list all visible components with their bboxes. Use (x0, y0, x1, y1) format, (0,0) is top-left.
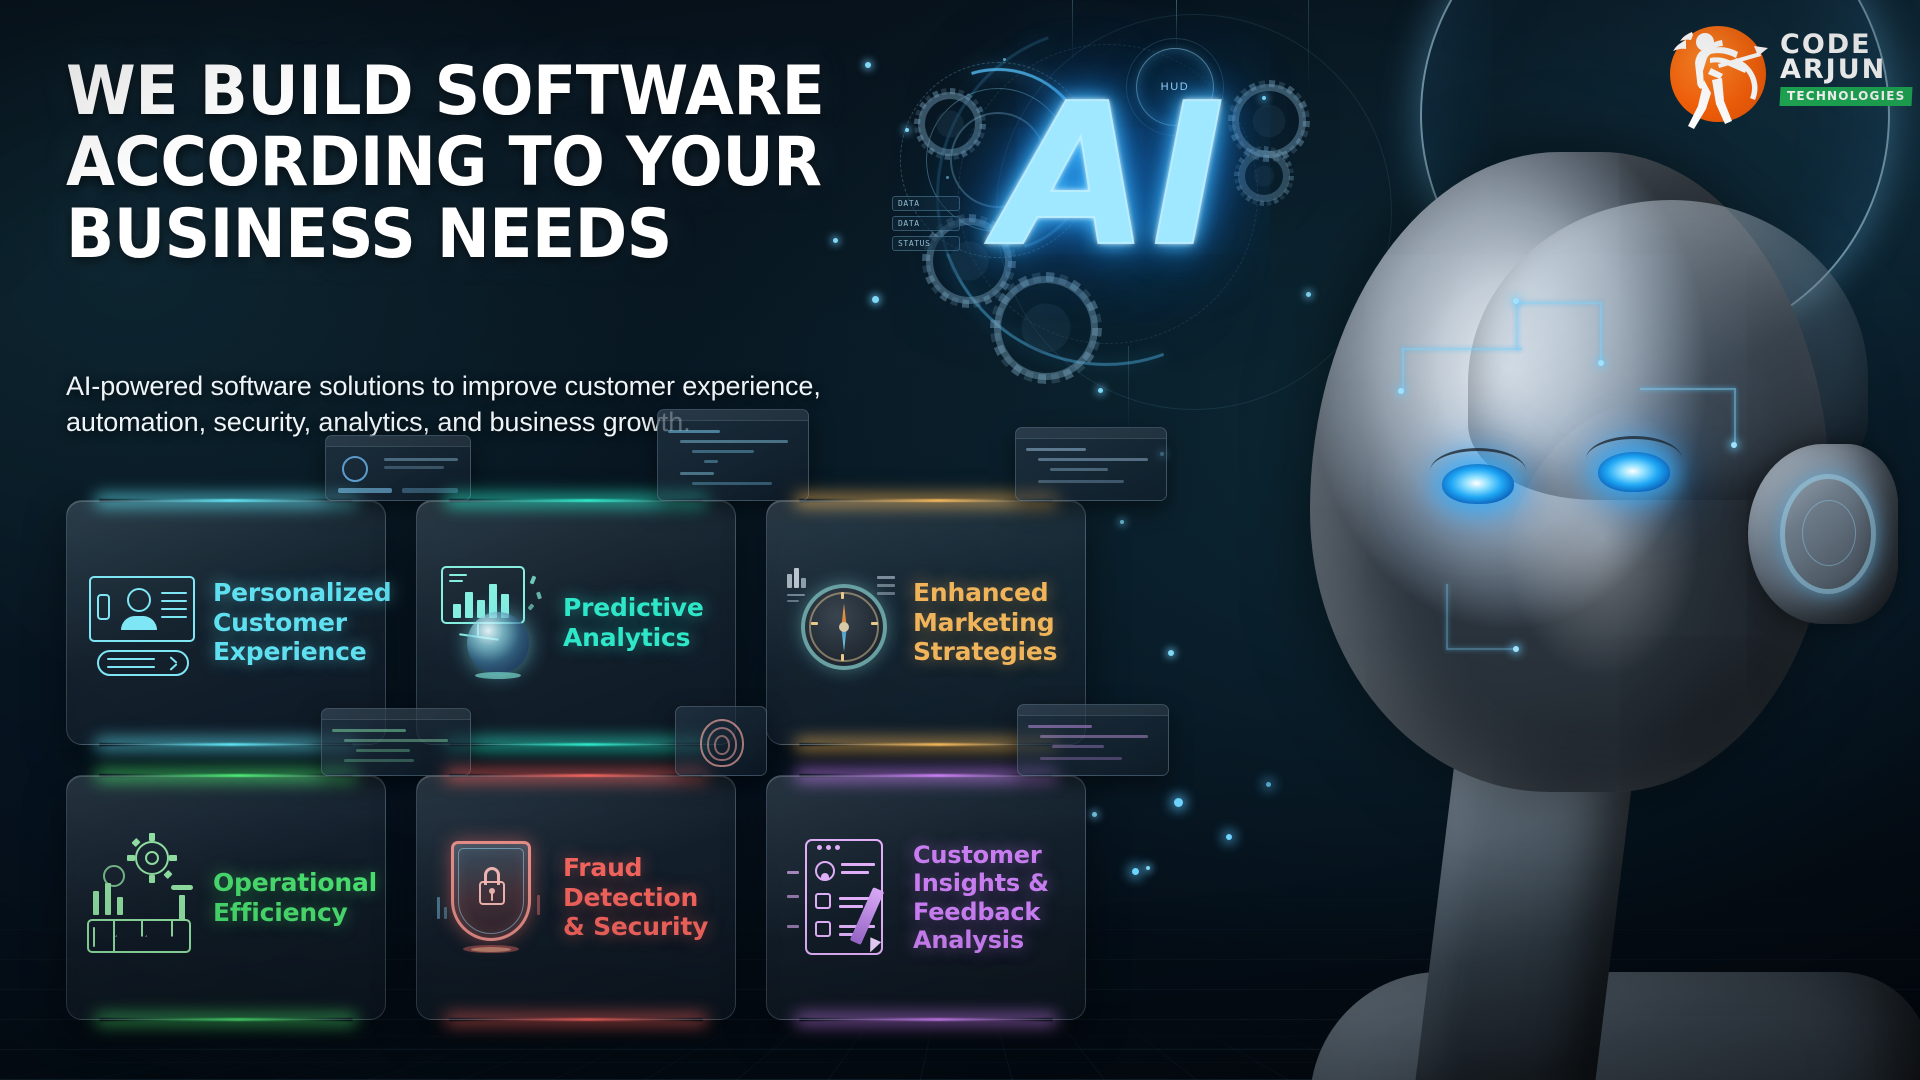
banner-stage: HUD DATA DATA STATUS AI (0, 0, 1920, 1080)
vignette-overlay (0, 0, 1920, 1080)
